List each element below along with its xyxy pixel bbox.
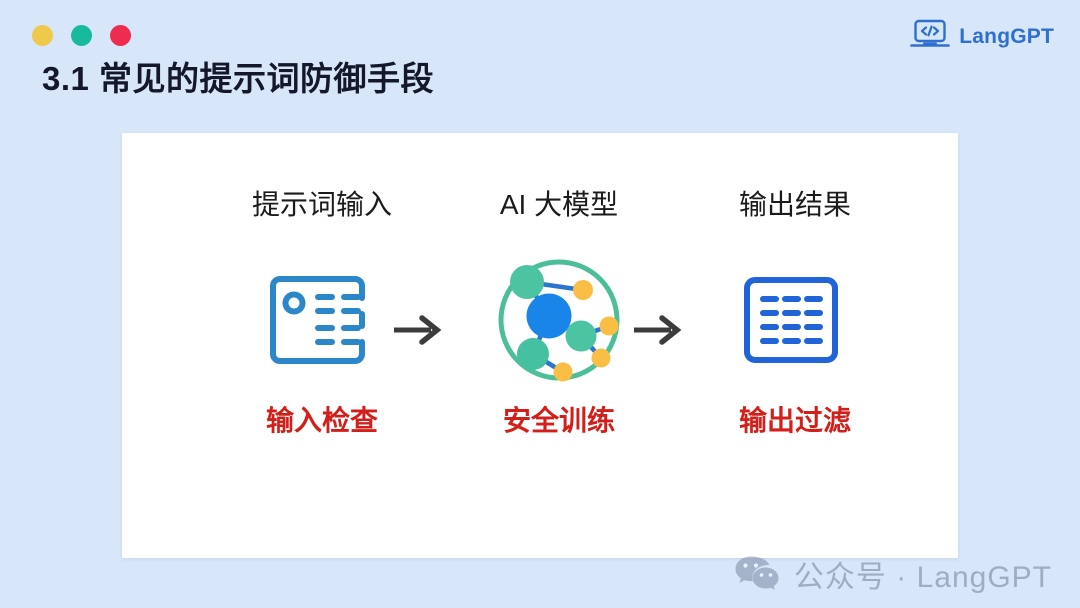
flow-step-model-label: 安全训练 xyxy=(449,399,669,439)
output-lines-icon xyxy=(685,257,905,383)
window-dot-yellow[interactable] xyxy=(32,25,53,46)
brand-logo: LangGPT xyxy=(910,18,1054,55)
flow-diagram: 提示词输入 输入检查 xyxy=(122,133,958,558)
flow-step-input-label: 输入检查 xyxy=(212,399,432,439)
watermark-text: 公众号 · LangGPT xyxy=(794,552,1052,596)
arrow-right-icon-2 xyxy=(627,305,689,355)
wechat-icon xyxy=(734,553,780,596)
laptop-code-icon xyxy=(910,18,950,55)
flow-step-output-label: 输出过滤 xyxy=(685,399,905,439)
page-title: 3.1 常见的提示词防御手段 xyxy=(42,52,434,100)
window-dot-red[interactable] xyxy=(110,25,131,46)
brand-name: LangGPT xyxy=(959,25,1054,49)
flow-step-output: 输出结果 输出过滤 xyxy=(685,191,905,439)
window-controls xyxy=(32,25,131,46)
watermark: 公众号 · LangGPT xyxy=(734,552,1052,596)
flow-step-output-title: 输出结果 xyxy=(685,191,905,219)
flow-step-input-title: 提示词输入 xyxy=(212,191,432,219)
flow-step-model-title: AI 大模型 xyxy=(449,191,669,219)
arrow-right-icon-1 xyxy=(387,305,449,355)
window-dot-green[interactable] xyxy=(71,25,92,46)
diagram-card: 提示词输入 输入检查 xyxy=(122,133,958,558)
